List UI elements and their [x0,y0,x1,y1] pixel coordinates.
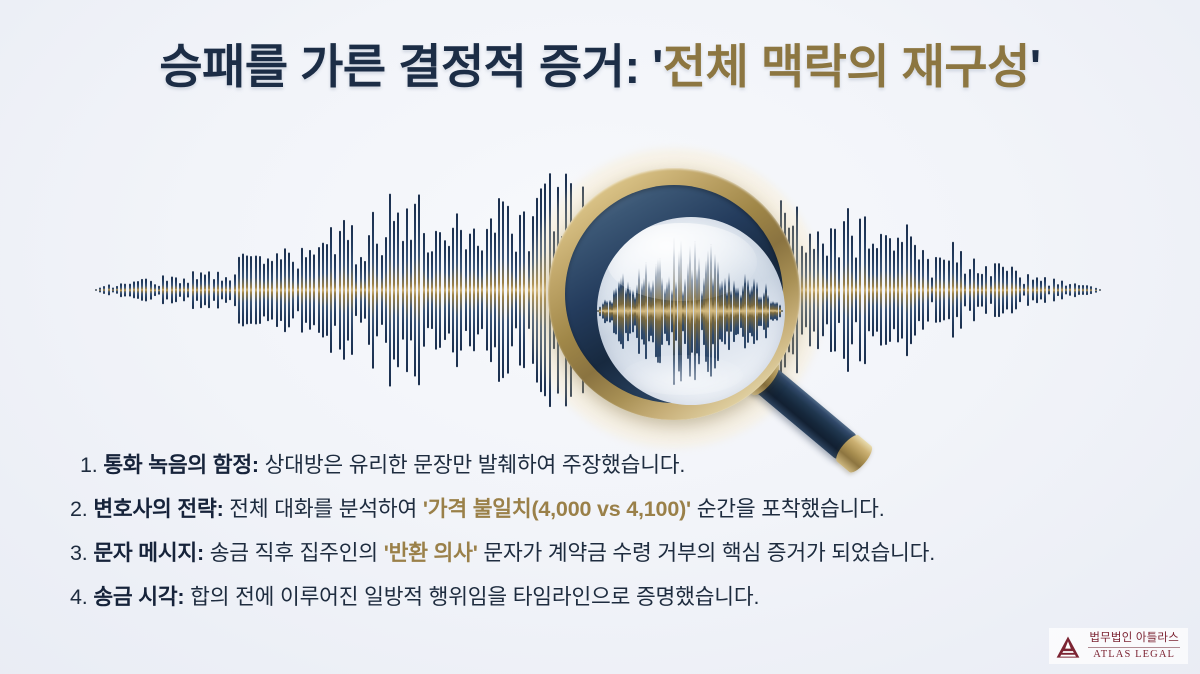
waveform-bar [964,274,966,307]
waveform-bar [364,261,366,319]
waveform-bar [326,244,328,336]
waveform-bar [276,253,278,327]
waveform-bar [910,236,912,345]
presentation-slide: 승패를 가른 결정적 증거: '전체 맥락의 재구성' [0,0,1200,674]
waveform-bar [1015,271,1017,310]
list-item: 1. 통화 녹음의 함정: 상대방은 유리한 문장만 발췌하여 주장했습니다. [70,443,1160,487]
title-line: 승패를 가른 결정적 증거: '전체 맥락의 재구성' [0,42,1200,93]
waveform-bar [116,286,118,294]
list-item-highlight: '가격 불일치(4,000 vs 4,100)' [423,497,691,521]
list-item-body-before: 송금 직후 집주인의 [204,541,384,565]
list-item-body-before: 합의 전에 이루어진 일방적 행위임을 타임라인으로 증명했습니다. [184,585,759,609]
slide-title: 승패를 가른 결정적 증거: '전체 맥락의 재구성' [0,42,1200,93]
waveform-bar [381,255,383,325]
waveform-bar [347,239,349,341]
waveform-bar [859,218,861,361]
waveform-bar [477,245,479,334]
waveform-bar [154,284,156,296]
magnifier-rim [548,168,800,420]
waveform-bar [952,242,954,338]
waveform-bar [981,273,983,307]
waveform-bar [1099,289,1101,291]
waveform-bar [402,240,404,339]
waveform-bar [927,258,929,321]
waveform-bar [204,275,206,306]
waveform-bar [515,252,517,329]
waveform-bar [973,259,975,322]
waveform-bar [507,206,509,374]
waveform-bar [410,239,412,340]
waveform-bar [435,230,437,349]
waveform-bar [1048,286,1050,295]
waveform-bar [448,246,450,334]
waveform-bar [1078,285,1080,295]
waveform-bar [1036,277,1038,304]
waveform-bar [855,258,857,323]
waveform-bar [1002,266,1004,313]
waveform-bar [255,256,257,325]
waveform-bar [444,240,446,340]
waveform-bar [162,276,164,305]
logo-english-name: ATLAS LEGAL [1088,648,1180,661]
list-item-body-before: 전체 대화를 분석하여 [224,497,423,521]
waveform-bar [956,263,958,318]
waveform-bar [1061,281,1063,300]
waveform-bar [876,248,878,332]
waveform-bar [960,251,962,329]
waveform-bar [179,283,181,297]
waveform-bar [439,232,441,348]
waveform-bar [939,258,941,323]
waveform-bar [1023,284,1025,296]
waveform-bar [1032,280,1034,301]
magnifier-glass [548,168,800,420]
magnifier-lens [597,217,785,405]
waveform-bar [498,198,500,382]
waveform-bar [830,228,832,352]
waveform-bar [208,272,210,309]
list-item-body-after: 순간을 포착했습니다. [691,497,885,521]
waveform-bar [1040,280,1042,299]
waveform-bar [452,227,454,352]
waveform-bar [473,229,475,352]
waveform-bar [423,233,425,347]
waveform-bar [112,287,114,292]
title-part-navy: 승패를 가른 결정적 증거: ' [159,40,662,93]
waveform-bar [372,211,374,368]
waveform-bar [465,249,467,331]
waveform-bar [943,259,945,320]
waveform-bar [271,260,273,320]
waveform-bar [171,277,173,304]
waveform-bar [393,220,395,360]
waveform-bar [469,234,471,347]
list-item-highlight: '반환 의사' [384,541,478,565]
waveform-bar [994,263,996,317]
waveform-bar [158,285,160,295]
waveform-bar [906,224,908,356]
waveform-bar [977,273,979,307]
waveform-bar [250,256,252,324]
evidence-list: 1. 통화 녹음의 함정: 상대방은 유리한 문장만 발췌하여 주장했습니다. … [70,443,1160,619]
title-part-navy-end: ' [1030,40,1041,93]
waveform-bar [129,283,131,296]
waveform-bar [376,244,378,337]
list-item-label: 변호사의 전략: [93,497,223,521]
waveform-bar [414,203,416,376]
waveform-bar [406,208,408,372]
firm-logo: 법무법인 아틀라스 ATLAS LEGAL [1049,628,1188,664]
waveform-bar [137,281,139,299]
logo-korean-name: 법무법인 아틀라스 [1088,633,1180,648]
waveform-bar [280,259,282,321]
waveform-bar [175,278,177,303]
waveform-bar [427,252,429,328]
waveform-bar [931,278,933,303]
waveform-bar [360,257,362,323]
waveform-bar [935,257,937,323]
waveform-bar [494,233,496,348]
waveform-bar [351,225,353,355]
waveform-bar [948,261,950,320]
waveform-bar [1019,278,1021,303]
waveform-bar [397,213,399,368]
waveform-bar [313,255,315,326]
waveform-bar [1082,285,1084,295]
waveform-bar [847,208,849,372]
waveform-bar [1065,286,1067,295]
waveform-bar [196,279,198,301]
waveform-bar [166,280,168,299]
atlas-triangle-icon [1055,634,1081,660]
waveform-bar [288,253,290,328]
waveform-bar [267,259,269,322]
waveform-bar [460,229,462,350]
waveform-bar [490,218,492,362]
waveform-bar [297,269,299,312]
logo-text: 법무법인 아틀라스 ATLAS LEGAL [1088,633,1180,660]
waveform-bar [145,279,147,302]
waveform-bar [511,234,513,347]
waveform-bar [120,283,122,298]
waveform-bar [519,214,521,366]
waveform-bar [481,251,483,330]
waveform-bar [1090,286,1092,294]
waveform-bar [284,248,286,333]
waveform-bar [385,237,387,343]
waveform-bar [322,242,324,337]
waveform-bar [221,281,223,300]
waveform-bar [263,263,265,316]
list-item-label: 송금 시각: [93,585,184,609]
waveform-bar [343,220,345,360]
waveform-bar [998,263,1000,317]
list-item-body-before: 상대방은 유리한 문장만 발췌하여 주장했습니다. [259,453,685,477]
waveform-bar [183,279,185,302]
waveform-bar [1011,266,1013,313]
waveform-bar [431,251,433,329]
waveform-bar [234,274,236,306]
waveform-bar [242,253,244,326]
title-part-gold: 전체 맥락의 재구성 [663,40,1030,93]
waveform-bar [213,279,215,301]
list-item-body-after: 문자가 계약금 수령 거부의 핵심 증거가 되었습니다. [478,541,935,565]
waveform-bar [103,286,105,294]
waveform-bar [99,287,101,292]
waveform-bar [141,279,143,301]
waveform-bar [922,250,924,330]
waveform-bar [1044,277,1046,303]
waveform-bar [259,256,261,324]
waveform-bar [95,289,97,291]
waveform-bar [918,259,920,322]
waveform-bar [868,249,870,332]
waveform-bar [872,244,874,337]
waveform-bar [486,229,488,351]
waveform-bar [889,238,891,342]
waveform-bar [368,235,370,345]
waveform-bar [192,271,194,309]
list-item-number: 2. [70,497,88,521]
magnified-waveform [597,217,785,405]
list-item-label: 문자 메시지: [93,541,204,565]
waveform-bar [318,247,320,333]
waveform-bar [124,283,126,296]
list-item: 3. 문자 메시지: 송금 직후 집주인의 '반환 의사' 문자가 계약금 수령… [70,531,1160,575]
waveform-bar [834,228,836,351]
waveform-bar [339,230,341,350]
waveform-bar [150,280,152,299]
waveform-bar [1086,285,1088,295]
waveform-bar [238,256,240,323]
waveform-bar [187,282,189,297]
waveform-bar [418,195,420,386]
waveform-bar [885,235,887,345]
waveform-bar [838,257,840,323]
list-item-label: 통화 녹음의 함정: [103,453,259,477]
waveform-bar [1053,278,1055,301]
magnified-waveform-bar [781,310,783,312]
list-item-number: 4. [70,585,88,609]
waveform-bar [355,264,357,316]
waveform-bar [914,244,916,336]
waveform-bar [389,193,391,386]
waveform-bar [897,238,899,343]
list-item-number: 1. [80,453,98,477]
waveform-bar [108,285,110,296]
waveform-bar [1027,274,1029,306]
list-item-number: 3. [70,541,88,565]
waveform-bar [1074,283,1076,297]
waveform-bar [456,213,458,367]
waveform-bar [1057,284,1059,296]
waveform-bar [901,241,903,338]
list-item: 2. 변호사의 전략: 전체 대화를 분석하여 '가격 불일치(4,000 vs… [70,487,1160,531]
waveform-bar [334,254,336,326]
waveform-bar [502,202,504,379]
waveform-bar [969,269,971,311]
waveform-bar [1069,284,1071,296]
waveform-bar [1095,287,1097,293]
waveform-bar [893,251,895,330]
waveform-bar [229,280,231,300]
waveform-bar [843,221,845,359]
waveform-bar [200,272,202,309]
waveform-bar [225,277,227,303]
hero-visual [0,140,1200,440]
waveform-bar [309,250,311,330]
waveform-bar [985,266,987,314]
waveform-bar [292,261,294,318]
waveform-bar [301,247,303,333]
waveform-bar [851,236,853,345]
waveform-bar [1006,270,1008,309]
waveform-bar [826,255,828,324]
waveform-bar [305,257,307,323]
magnifier-inner-ring [565,185,783,403]
waveform-bar [864,216,866,365]
waveform-bar [330,227,332,353]
waveform-bar [217,271,219,308]
list-item: 4. 송금 시각: 합의 전에 이루어진 일방적 행위임을 타임라인으로 증명했… [70,575,1160,619]
waveform-bar [990,276,992,304]
waveform-bar [133,282,135,299]
waveform-bar [246,256,248,325]
waveform-bar [880,234,882,346]
